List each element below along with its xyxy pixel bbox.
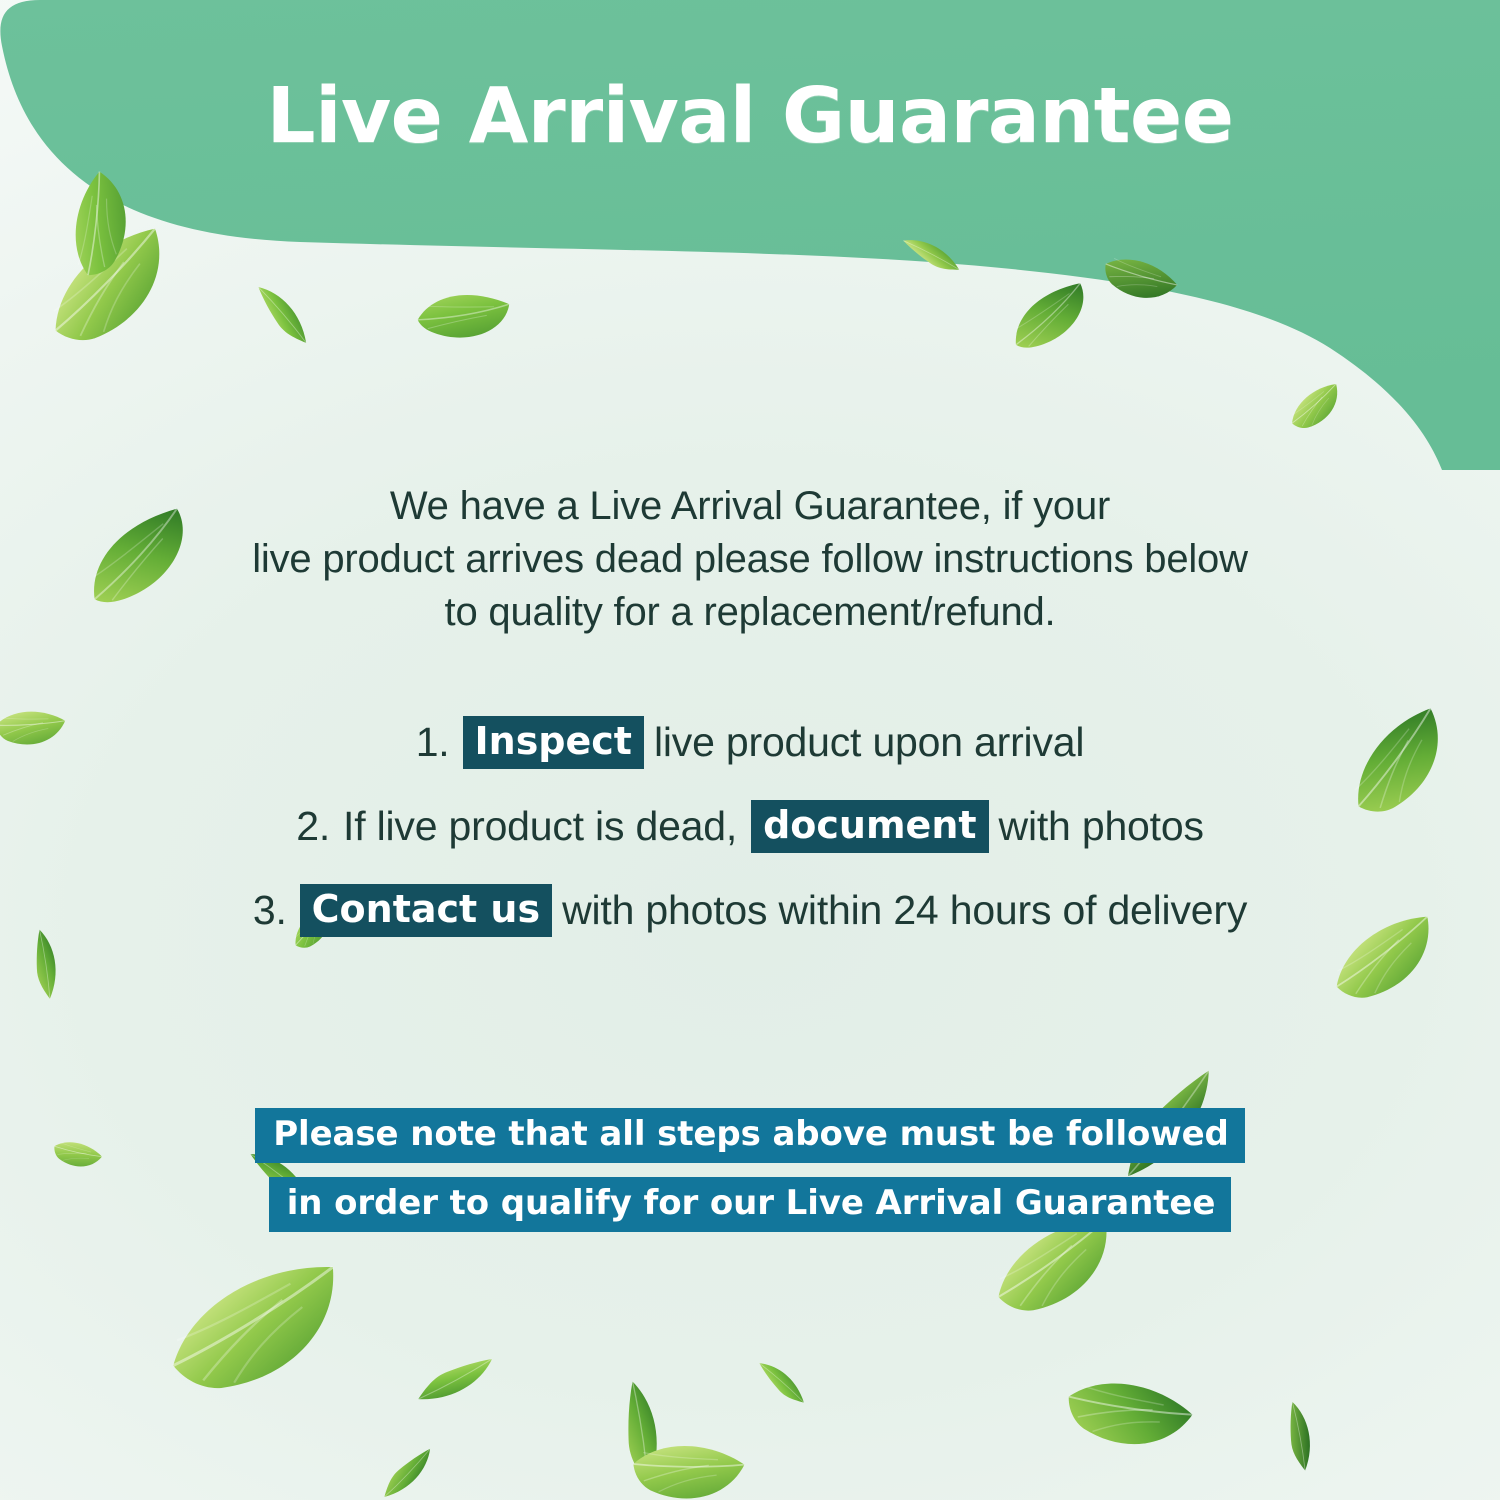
step-number: 2. bbox=[296, 806, 330, 847]
steps-list: 1. Inspect live product upon arrival 2. … bbox=[0, 700, 1500, 952]
step-number: 3. bbox=[253, 890, 287, 931]
step-highlight-document: document bbox=[751, 800, 988, 853]
step-text: live product upon arrival bbox=[654, 722, 1084, 763]
step-item-3: 3. Contact us with photos within 24 hour… bbox=[0, 868, 1500, 952]
intro-line-1: We have a Live Arrival Guarantee, if you… bbox=[0, 480, 1500, 533]
note-line-1: Please note that all steps above must be… bbox=[255, 1108, 1245, 1163]
leaf-icon bbox=[755, 1356, 810, 1408]
leaf-icon bbox=[378, 1443, 437, 1500]
leaf-icon bbox=[627, 1428, 746, 1500]
live-arrival-guarantee-graphic: Live Arrival Guarantee bbox=[0, 0, 1500, 1500]
leaf-icon bbox=[1059, 1358, 1195, 1469]
header-blob: Live Arrival Guarantee bbox=[0, 0, 1500, 470]
step-lead-text: If live product is dead, bbox=[343, 806, 737, 847]
leaf-icon bbox=[1284, 1400, 1315, 1472]
step-item-1: 1. Inspect live product upon arrival bbox=[0, 700, 1500, 784]
note-banner: Please note that all steps above must be… bbox=[0, 1108, 1500, 1232]
intro-line-3: to quality for a replacement/refund. bbox=[0, 586, 1500, 639]
step-highlight-contact-us: Contact us bbox=[300, 884, 552, 937]
step-item-2: 2. If live product is dead, document wit… bbox=[0, 784, 1500, 868]
leaf-icon bbox=[413, 1350, 498, 1410]
step-text: with photos within 24 hours of delivery bbox=[562, 890, 1247, 931]
page-title: Live Arrival Guarantee bbox=[0, 78, 1500, 155]
intro-paragraph: We have a Live Arrival Guarantee, if you… bbox=[0, 480, 1500, 640]
step-number: 1. bbox=[416, 722, 450, 763]
header-blob-shape bbox=[0, 0, 1500, 470]
leaf-icon bbox=[620, 1379, 663, 1487]
note-line-2: in order to qualify for our Live Arrival… bbox=[269, 1177, 1232, 1232]
step-highlight-inspect: Inspect bbox=[463, 716, 644, 769]
step-text: with photos bbox=[999, 806, 1204, 847]
leaf-icon bbox=[158, 1260, 355, 1399]
intro-line-2: live product arrives dead please follow … bbox=[0, 533, 1500, 586]
